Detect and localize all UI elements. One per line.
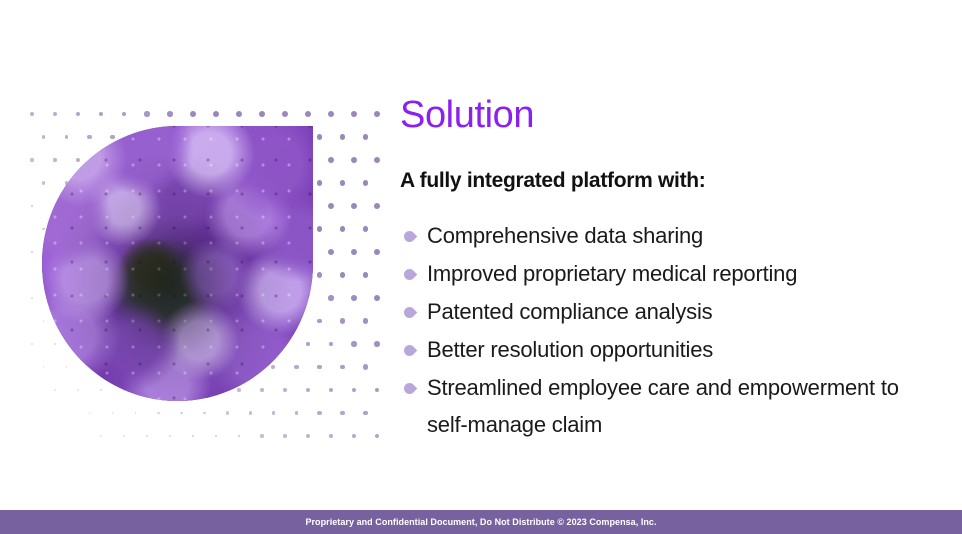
halftone-dot bbox=[329, 342, 334, 347]
halftone-dot bbox=[146, 435, 148, 437]
halftone-dot bbox=[317, 411, 321, 415]
halftone-dot bbox=[363, 180, 369, 186]
halftone-dot bbox=[169, 435, 171, 437]
teardrop-bullet-icon bbox=[402, 342, 418, 358]
halftone-dot bbox=[351, 249, 357, 255]
halftone-dot bbox=[352, 434, 356, 438]
halftone-dot bbox=[352, 388, 357, 393]
halftone-dot bbox=[305, 111, 311, 117]
halftone-dot bbox=[317, 226, 323, 232]
halftone-dot bbox=[123, 435, 125, 437]
halftone-dot bbox=[100, 435, 101, 436]
list-item-label: Patented compliance analysis bbox=[427, 299, 712, 324]
halftone-dot bbox=[363, 226, 369, 232]
photo-shadow-overlay bbox=[42, 126, 313, 401]
halftone-dot bbox=[340, 272, 346, 278]
halftone-dot bbox=[363, 364, 368, 369]
teardrop-bullet-icon bbox=[402, 305, 418, 321]
halftone-dot bbox=[167, 111, 172, 116]
list-item: Comprehensive data sharing bbox=[400, 217, 940, 255]
list-item: Streamlined employee care and empowermen… bbox=[400, 369, 940, 445]
halftone-dot bbox=[340, 365, 345, 370]
halftone-dot bbox=[340, 318, 345, 323]
halftone-dot bbox=[31, 297, 33, 299]
halftone-dot bbox=[329, 434, 333, 438]
list-item-label: Streamlined employee care and empowermen… bbox=[427, 375, 899, 438]
teardrop-photo bbox=[42, 126, 313, 401]
halftone-dot bbox=[351, 203, 357, 209]
footer-bar: Proprietary and Confidential Document, D… bbox=[0, 510, 962, 534]
halftone-dot bbox=[329, 388, 333, 392]
list-item-label: Comprehensive data sharing bbox=[427, 223, 703, 248]
halftone-dot bbox=[157, 412, 159, 414]
list-item: Improved proprietary medical reporting bbox=[400, 255, 940, 293]
halftone-dot bbox=[135, 412, 137, 414]
halftone-dot bbox=[122, 112, 127, 117]
halftone-dot bbox=[215, 435, 218, 438]
halftone-dot bbox=[282, 111, 288, 117]
halftone-dot bbox=[374, 111, 380, 117]
bullet-list: Comprehensive data sharingImproved propr… bbox=[400, 217, 940, 444]
halftone-dot bbox=[30, 158, 33, 161]
halftone-dot bbox=[272, 411, 276, 415]
halftone-dot bbox=[317, 365, 322, 370]
halftone-dot bbox=[317, 180, 323, 186]
halftone-dot bbox=[295, 411, 299, 415]
halftone-dot bbox=[190, 111, 196, 117]
halftone-dot bbox=[31, 205, 34, 208]
halftone-dot bbox=[53, 112, 57, 116]
halftone-dot bbox=[363, 134, 369, 140]
halftone-dot bbox=[340, 411, 344, 415]
halftone-dot bbox=[213, 111, 219, 117]
halftone-dot bbox=[89, 412, 90, 413]
halftone-dot bbox=[340, 226, 346, 232]
halftone-dot bbox=[328, 111, 334, 117]
halftone-dot bbox=[226, 411, 229, 414]
halftone-dot bbox=[328, 203, 334, 209]
teardrop-bullet-icon bbox=[402, 267, 418, 283]
halftone-dot bbox=[180, 412, 182, 414]
halftone-dot bbox=[238, 435, 241, 438]
halftone-dot bbox=[351, 111, 357, 117]
halftone-dot bbox=[351, 295, 357, 301]
halftone-dot bbox=[375, 434, 379, 438]
halftone-dot bbox=[144, 111, 149, 116]
halftone-dot bbox=[363, 272, 369, 278]
halftone-dot bbox=[363, 318, 369, 324]
subheading: A fully integrated platform with: bbox=[400, 168, 940, 193]
halftone-dot bbox=[259, 111, 265, 117]
halftone-dot bbox=[375, 388, 380, 393]
page-title: Solution bbox=[400, 96, 940, 134]
list-item-label: Improved proprietary medical reporting bbox=[427, 261, 797, 286]
halftone-dot bbox=[260, 434, 263, 437]
halftone-dot bbox=[328, 295, 333, 300]
halftone-dot bbox=[351, 157, 357, 163]
halftone-dot bbox=[328, 249, 334, 255]
halftone-dot bbox=[374, 341, 379, 346]
halftone-dot bbox=[351, 341, 356, 346]
halftone-dot bbox=[374, 203, 380, 209]
teardrop-bullet-icon bbox=[402, 380, 418, 396]
halftone-dot bbox=[317, 134, 323, 140]
halftone-dot bbox=[317, 319, 322, 324]
halftone-dot bbox=[340, 134, 346, 140]
list-item: Better resolution opportunities bbox=[400, 331, 940, 369]
halftone-dot bbox=[374, 157, 380, 163]
halftone-dot bbox=[306, 434, 310, 438]
halftone-dot bbox=[31, 343, 33, 345]
halftone-dot bbox=[112, 412, 114, 414]
halftone-dot bbox=[249, 411, 252, 414]
halftone-dot bbox=[328, 157, 334, 163]
list-item: Patented compliance analysis bbox=[400, 293, 940, 331]
halftone-dot bbox=[203, 412, 206, 415]
halftone-dot bbox=[283, 434, 286, 437]
halftone-dot bbox=[31, 251, 33, 253]
halftone-dot bbox=[374, 295, 380, 301]
halftone-dot bbox=[99, 112, 104, 117]
halftone-dot bbox=[192, 435, 194, 437]
visual-block bbox=[0, 90, 390, 460]
footer-text: Proprietary and Confidential Document, D… bbox=[305, 517, 656, 527]
halftone-dot bbox=[340, 180, 346, 186]
content-column: Solution A fully integrated platform wit… bbox=[400, 96, 940, 444]
halftone-dot bbox=[317, 272, 322, 277]
halftone-dot bbox=[363, 411, 368, 416]
teardrop-bullet-icon bbox=[402, 229, 418, 245]
halftone-dot bbox=[76, 112, 80, 116]
halftone-dot bbox=[30, 112, 34, 116]
list-item-label: Better resolution opportunities bbox=[427, 337, 713, 362]
halftone-dot bbox=[236, 111, 242, 117]
slide-canvas: Solution A fully integrated platform wit… bbox=[0, 0, 962, 534]
halftone-dot bbox=[374, 249, 380, 255]
